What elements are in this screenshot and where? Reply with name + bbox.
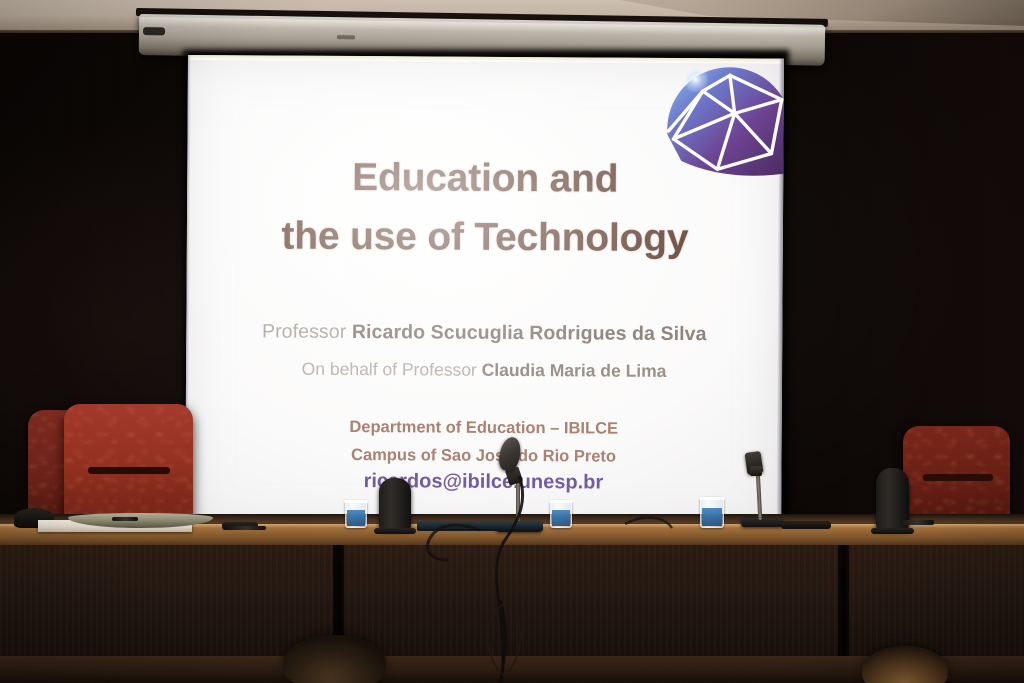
author-name: Ricardo Scucuglia Rodrigues da Silva <box>352 321 707 345</box>
slide-department-block: Department of Education – IBILCE Campus … <box>185 412 781 472</box>
water-glass-left <box>345 500 367 528</box>
microphone-right-base <box>741 518 783 527</box>
water-glass-right <box>700 497 724 528</box>
slide-behalf-line: On behalf of Professor Claudia Maria de … <box>186 358 782 383</box>
glass-liquid <box>347 510 365 526</box>
author-prefix: Professor <box>262 320 352 343</box>
roller-endcap <box>143 27 165 35</box>
behalf-name: Claudia Maria de Lima <box>482 360 667 381</box>
behalf-prefix: On behalf of Professor <box>302 359 482 380</box>
laptop-slab <box>417 521 543 531</box>
document-right <box>781 521 831 529</box>
slide-email: ricardos@ibilce.unesp.br <box>185 469 781 496</box>
speaker-right-base <box>871 528 914 534</box>
audience-head-left <box>283 635 386 683</box>
pen-right <box>900 520 934 525</box>
slide-content: Education and the use of Technology Prof… <box>185 55 784 537</box>
glass-rim <box>699 497 725 500</box>
speaker-center <box>379 478 411 530</box>
pen-center <box>226 526 266 530</box>
microphone-right-clip <box>750 466 762 476</box>
conference-room-scene: Education and the use of Technology Prof… <box>0 0 1024 683</box>
slide-title-line-1: Education and <box>187 147 783 210</box>
roller-brand-mark <box>337 35 355 39</box>
slide-campus: Campus of Sao Jose do Rio Preto <box>185 440 781 472</box>
water-glass-center <box>550 500 572 528</box>
speaker-center-base <box>374 528 416 534</box>
slide-author-line: Professor Ricardo Scucuglia Rodrigues da… <box>186 320 782 347</box>
chair-backrest-slot <box>923 474 993 481</box>
glass-liquid <box>552 510 570 526</box>
slide-title-line-2: the use of Technology <box>187 206 783 269</box>
slide-title: Education and the use of Technology <box>187 147 784 269</box>
glass-rim <box>549 500 573 503</box>
projection-screen: Education and the use of Technology Prof… <box>185 55 784 537</box>
glass-rim <box>344 500 368 503</box>
slide-department: Department of Education – IBILCE <box>186 412 782 444</box>
glass-liquid <box>702 508 722 526</box>
pen-left <box>112 517 138 521</box>
chair-backrest-slot <box>88 467 170 474</box>
